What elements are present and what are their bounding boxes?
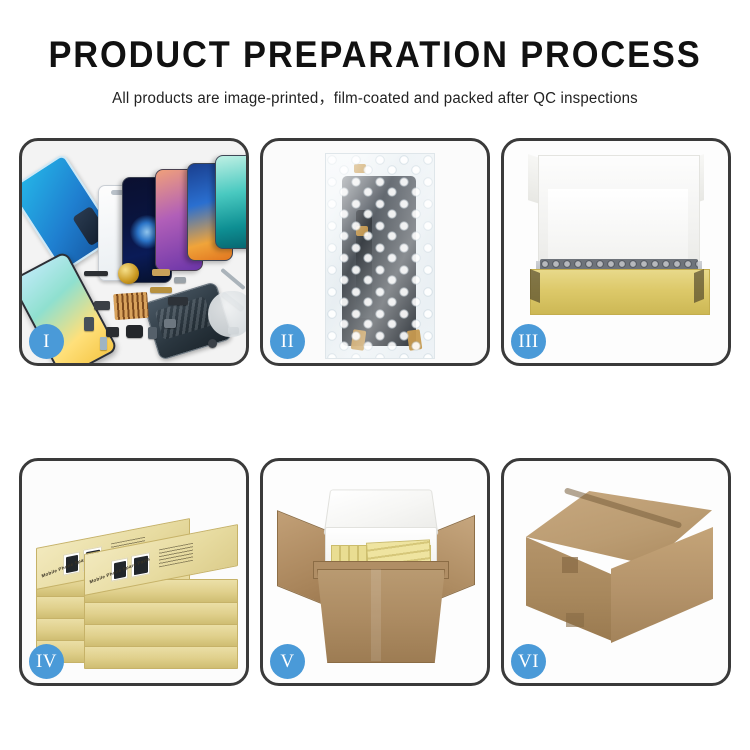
steps-grid: I II	[19, 138, 731, 686]
kraft-box	[84, 645, 238, 669]
step-panel-6: VI	[501, 458, 731, 686]
step-panel-5: V	[260, 458, 490, 686]
bubble-wrap-bag	[325, 153, 435, 359]
kraft-box	[84, 601, 238, 625]
page-subtitle: All products are image-printed，film-coat…	[11, 86, 739, 108]
hand	[208, 291, 246, 337]
step-badge-3: III	[511, 324, 546, 359]
step-badge-4: IV	[29, 644, 64, 679]
step-panel-4: Mobile Phone Spare Parts Mobile Phone Sp…	[19, 458, 249, 686]
copper-coil-part	[118, 263, 139, 284]
plastic-sheen	[326, 154, 434, 358]
chip-grid-part	[113, 292, 149, 320]
header: PRODUCT PREPARATION PROCESS All products…	[0, 0, 750, 108]
spare-part	[174, 277, 186, 283]
spare-part	[106, 327, 119, 337]
box-corner-left	[530, 269, 540, 303]
step-badge-2: II	[270, 324, 305, 359]
box-stack: Mobile Phone Spare Parts Mobile Phone Sp…	[36, 489, 238, 665]
step-badge-6: VI	[511, 644, 546, 679]
kraft-box	[84, 623, 238, 647]
spare-part	[150, 287, 172, 293]
yellow-box-front	[530, 269, 710, 315]
spare-part	[148, 327, 157, 339]
spare-part	[152, 269, 170, 276]
step-badge-5: V	[270, 644, 305, 679]
spare-part	[126, 325, 143, 338]
spare-part	[168, 297, 188, 305]
page-title: PRODUCT PREPARATION PROCESS	[26, 36, 724, 75]
carton-tape-patch	[562, 557, 578, 573]
tweezers-icon	[220, 268, 246, 290]
step-panel-1: I	[19, 138, 249, 366]
carton-tape-patch	[566, 613, 584, 627]
spare-part	[84, 271, 108, 276]
step-panel-2: II	[260, 138, 490, 366]
box-art-text-lines	[159, 543, 193, 568]
step-badge-1: I	[29, 324, 64, 359]
carton-body	[317, 569, 445, 663]
carton-seam	[371, 569, 381, 661]
infographic-page: PRODUCT PREPARATION PROCESS All products…	[0, 0, 750, 750]
step-panel-3: III	[501, 138, 731, 366]
spare-part	[94, 301, 110, 310]
phone-display-teal	[215, 155, 246, 249]
box-corner-right	[694, 269, 704, 303]
spare-part	[84, 317, 94, 331]
spare-part	[100, 337, 107, 350]
spare-part	[164, 319, 176, 328]
spare-part	[208, 339, 217, 348]
